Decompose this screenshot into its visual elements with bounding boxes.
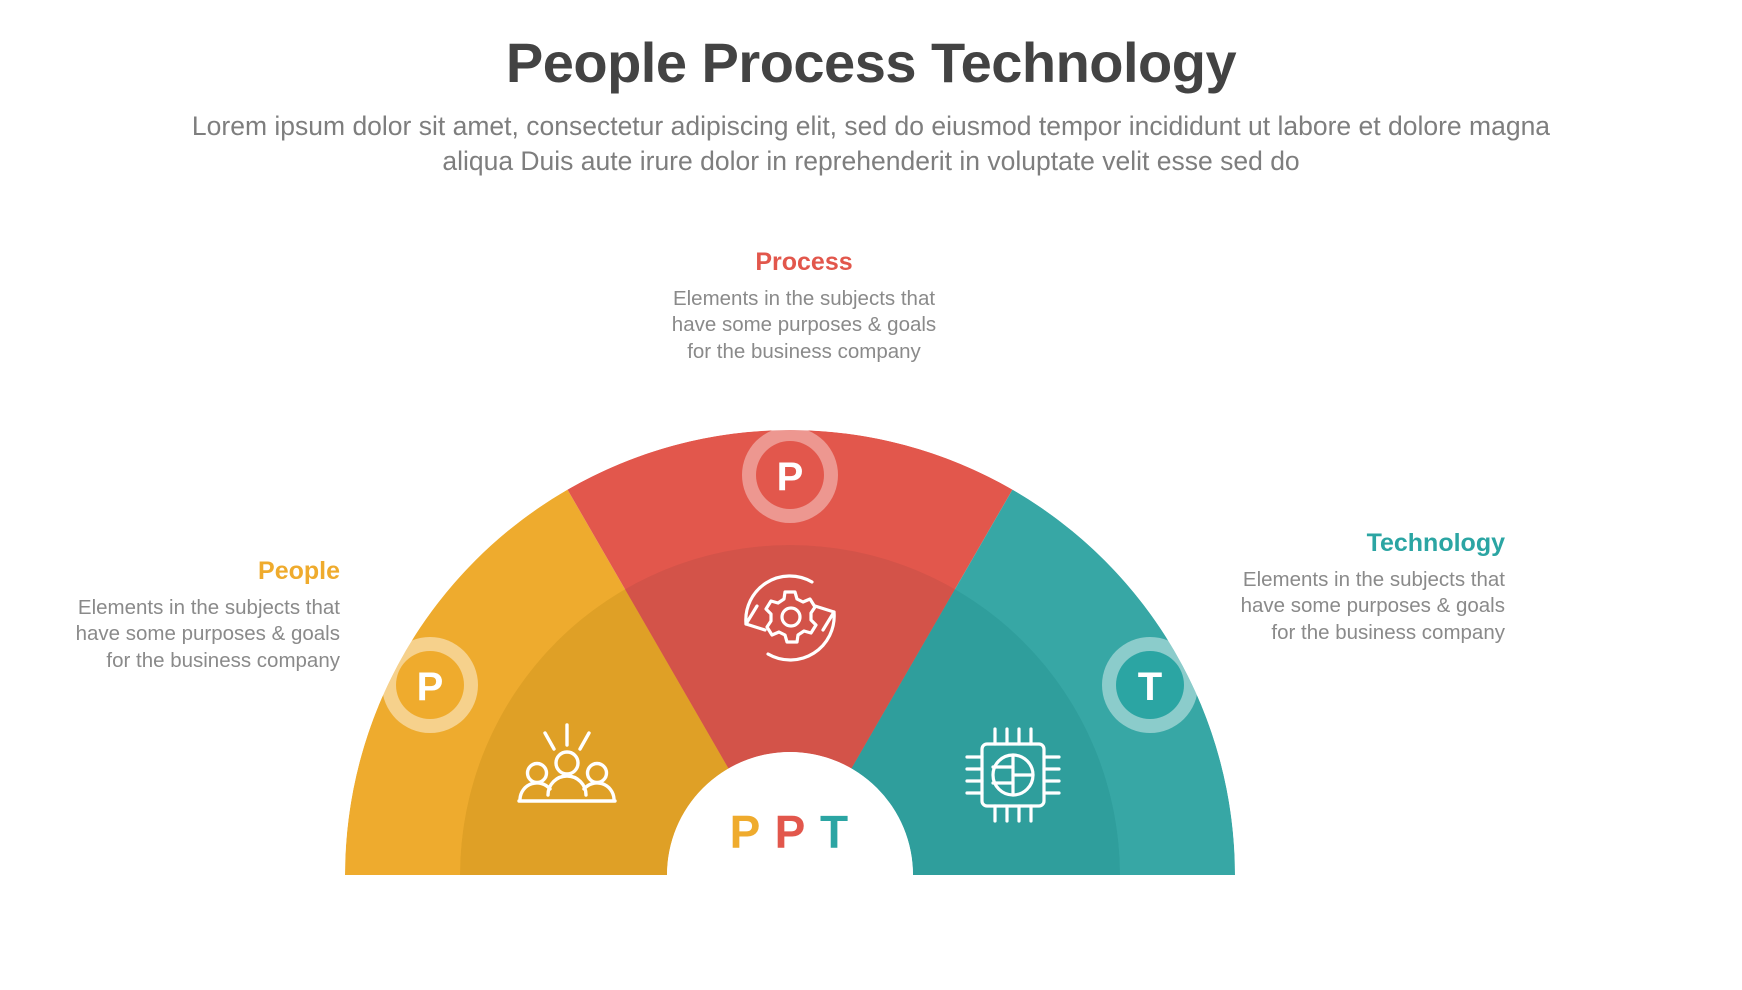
semicircle-diagram: P P T — [345, 430, 1235, 990]
center-circle — [667, 752, 913, 990]
badge-technology[interactable]: T — [1102, 637, 1198, 733]
people-description-line-2: have some purposes & goals — [40, 621, 340, 648]
technology-description-line-3: for the business company — [1205, 620, 1505, 647]
people-description-line-1: Elements in the subjects that — [40, 595, 340, 622]
process-description-line-3: for the business company — [654, 339, 954, 366]
badge-technology-letter: T — [1138, 665, 1162, 709]
text-block-people: People Elements in the subjects that hav… — [40, 558, 340, 674]
ppt-letter-t: T — [820, 806, 848, 858]
technology-heading: Technology — [1205, 530, 1505, 558]
page-subtitle-line-1: Lorem ipsum dolor sit amet, consectetur … — [192, 111, 1351, 141]
text-block-technology: Technology Elements in the subjects that… — [1205, 530, 1505, 646]
text-block-process: Process Elements in the subjects that ha… — [654, 249, 954, 365]
technology-description: Elements in the subjects that have some … — [1205, 567, 1505, 647]
center-ppt-label: P P T — [730, 806, 848, 858]
page-subtitle: Lorem ipsum dolor sit amet, consectetur … — [161, 109, 1581, 180]
badge-process[interactable]: P — [742, 430, 838, 523]
badge-people[interactable]: P — [382, 637, 478, 733]
people-heading: People — [40, 558, 340, 586]
header: People Process Technology Lorem ipsum do… — [0, 0, 1742, 180]
ppt-letter-p2: P — [775, 806, 806, 858]
badge-people-letter: P — [417, 665, 444, 709]
process-heading: Process — [654, 249, 954, 277]
technology-description-line-2: have some purposes & goals — [1205, 593, 1505, 620]
ppt-letter-p1: P — [730, 806, 761, 858]
page-title: People Process Technology — [0, 0, 1742, 95]
process-description-line-2: have some purposes & goals — [654, 312, 954, 339]
people-description-line-3: for the business company — [40, 648, 340, 675]
people-description: Elements in the subjects that have some … — [40, 595, 340, 675]
badge-process-letter: P — [777, 455, 804, 499]
process-description: Elements in the subjects that have some … — [654, 286, 954, 366]
technology-description-line-1: Elements in the subjects that — [1205, 567, 1505, 594]
process-description-line-1: Elements in the subjects that — [654, 286, 954, 313]
